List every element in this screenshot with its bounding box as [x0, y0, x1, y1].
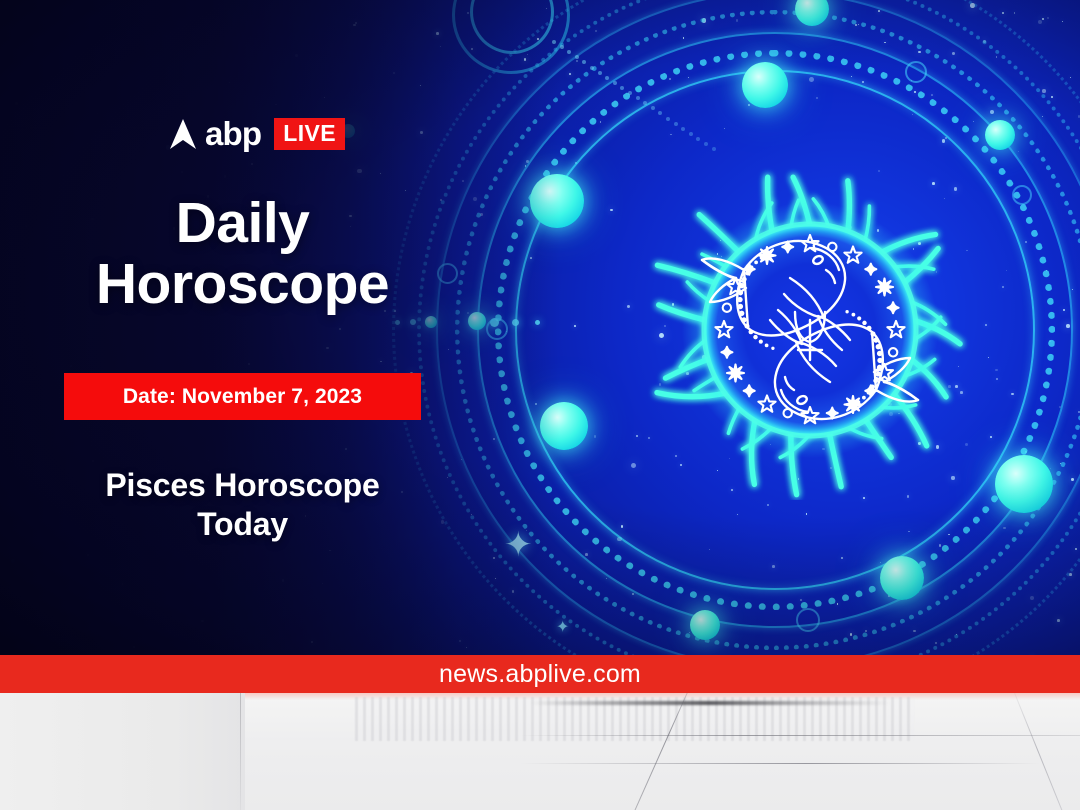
surface-bevel-edge	[240, 693, 241, 810]
surface-edge-line-a	[520, 735, 1080, 736]
date-badge: Date: November 7, 2023	[64, 373, 421, 420]
live-badge: LIVE	[274, 118, 345, 150]
subtitle: Pisces Horoscope Today	[0, 466, 485, 545]
logo-wordmark: abp	[205, 117, 261, 150]
laptop-surface	[0, 693, 1080, 810]
title-line-1: Daily	[0, 193, 485, 254]
footer-url-text[interactable]: news.abplive.com	[439, 660, 641, 689]
surface-left-panel	[0, 693, 245, 810]
surface-edge-line-b	[520, 763, 1040, 764]
title-line-2: Horoscope	[0, 254, 485, 315]
subtitle-line-1: Pisces Horoscope	[0, 466, 485, 505]
page-title: Daily Horoscope	[0, 193, 485, 315]
left-text-panel: abp LIVE Daily Horoscope Date: November …	[0, 0, 500, 692]
date-badge-text: Date: November 7, 2023	[123, 385, 362, 409]
footer-url-bar: news.abplive.com	[0, 655, 1080, 693]
horoscope-graphic-card: ✦ ✦	[0, 0, 1080, 810]
surface-diagonal-edge-right	[1010, 693, 1078, 810]
abp-chevron-logo-icon	[170, 119, 196, 149]
abp-live-logo[interactable]: abp LIVE	[170, 117, 345, 150]
laptop-hinge-shadow	[530, 701, 890, 705]
subtitle-line-2: Today	[0, 505, 485, 544]
